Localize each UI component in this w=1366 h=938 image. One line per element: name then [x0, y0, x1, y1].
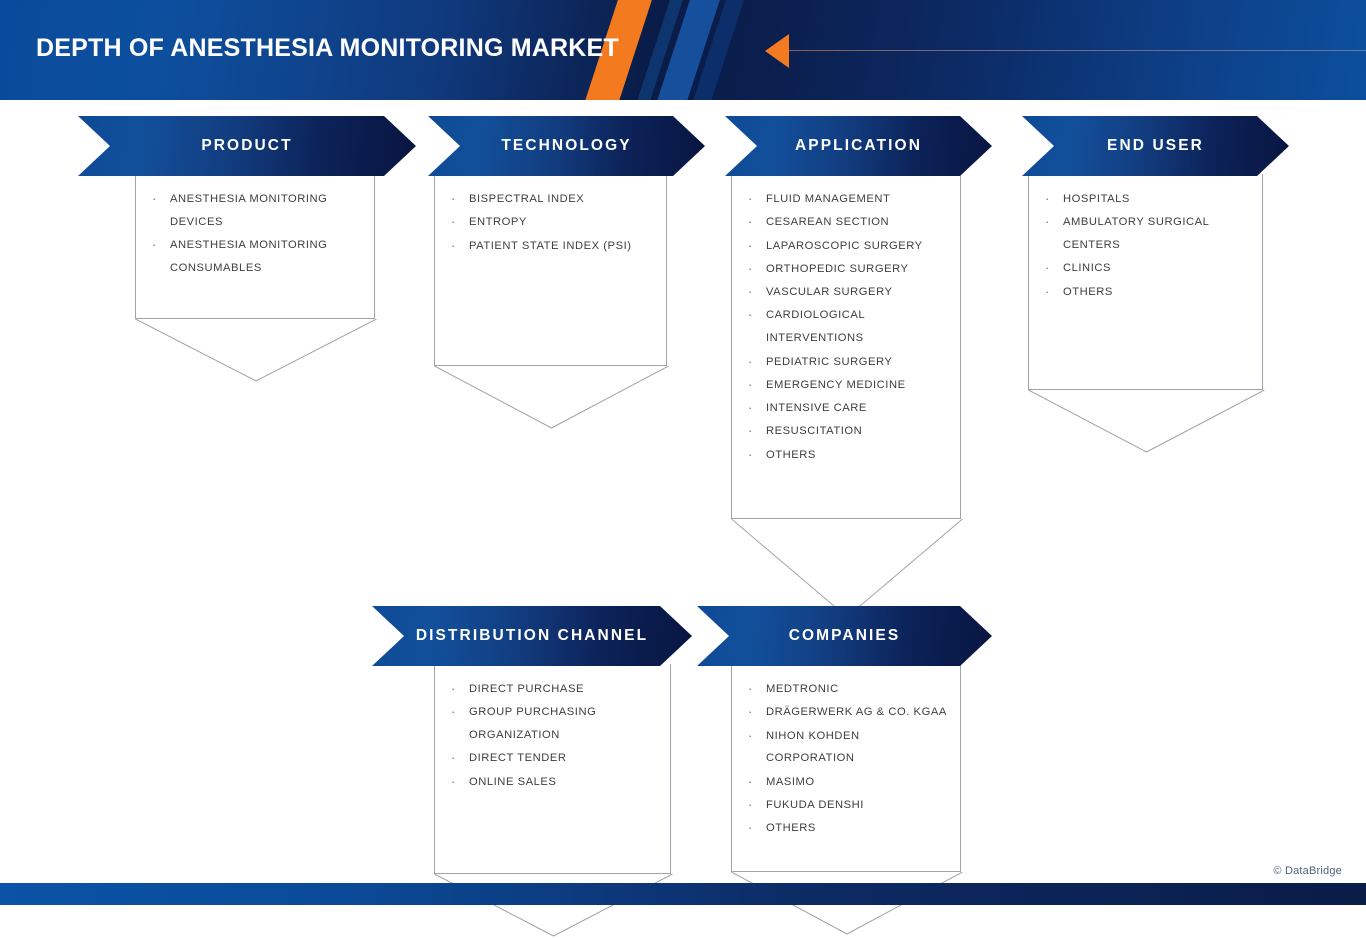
- bullet-icon: ·: [746, 725, 766, 748]
- footer-bar: [0, 883, 1366, 905]
- list-item: ·DIRECT PURCHASE: [449, 678, 660, 701]
- category-banner-end-user[interactable]: END USER: [1022, 116, 1289, 176]
- list-item: ·ANESTHESIA MONITORING CONSUMABLES: [150, 234, 364, 280]
- list-item: ·DIRECT TENDER: [449, 747, 660, 770]
- bullet-icon: ·: [449, 211, 469, 234]
- category-banner-label: APPLICATION: [795, 137, 922, 155]
- category-banner-label: DISTRIBUTION CHANNEL: [416, 627, 648, 645]
- bullet-icon: ·: [746, 794, 766, 817]
- list-item: ·AMBULATORY SURGICAL CENTERS: [1043, 211, 1252, 257]
- list-item: ·PEDIATRIC SURGERY: [746, 351, 950, 374]
- bullet-icon: ·: [746, 420, 766, 443]
- list-item: ·ENTROPY: [449, 211, 656, 234]
- bullet-icon: ·: [746, 701, 766, 724]
- bullet-icon: ·: [449, 678, 469, 701]
- category-card-application: ·FLUID MANAGEMENT·CESAREAN SECTION·LAPAR…: [731, 174, 961, 519]
- category-list-application: ·FLUID MANAGEMENT·CESAREAN SECTION·LAPAR…: [732, 174, 960, 473]
- bullet-icon: ·: [746, 771, 766, 794]
- list-item: ·VASCULAR SURGERY: [746, 281, 950, 304]
- list-item-label: ANESTHESIA MONITORING DEVICES: [170, 188, 364, 234]
- category-banner-companies[interactable]: COMPANIES: [697, 606, 992, 666]
- category-card-distribution-channel: ·DIRECT PURCHASE·GROUP PURCHASING ORGANI…: [434, 664, 671, 874]
- bullet-icon: ·: [746, 258, 766, 281]
- list-item: ·FLUID MANAGEMENT: [746, 188, 950, 211]
- list-item: ·MASIMO: [746, 771, 950, 794]
- bullet-icon: ·: [746, 211, 766, 234]
- bullet-icon: ·: [449, 771, 469, 794]
- list-item-label: EMERGENCY MEDICINE: [766, 374, 950, 397]
- list-item-label: PEDIATRIC SURGERY: [766, 351, 950, 374]
- category-list-product: ·ANESTHESIA MONITORING DEVICES·ANESTHESI…: [136, 174, 374, 286]
- list-item: ·OTHERS: [1043, 281, 1252, 304]
- bullet-icon: ·: [150, 188, 170, 211]
- bullet-icon: ·: [746, 351, 766, 374]
- bullet-icon: ·: [746, 374, 766, 397]
- list-item-label: RESUSCITATION: [766, 420, 950, 443]
- list-item: ·MEDTRONIC: [746, 678, 950, 701]
- category-list-companies: ·MEDTRONIC·DRÄGERWERK AG & CO. KGAA·NIHO…: [732, 664, 960, 847]
- category-list-technology: ·BISPECTRAL INDEX·ENTROPY·PATIENT STATE …: [435, 174, 666, 264]
- card-point-bottom: [135, 319, 375, 381]
- bullet-icon: ·: [1043, 211, 1063, 234]
- list-item-label: OTHERS: [766, 444, 950, 467]
- list-item: ·ORTHOPEDIC SURGERY: [746, 258, 950, 281]
- list-item: ·CLINICS: [1043, 257, 1252, 280]
- left-arrow-icon: [765, 34, 789, 68]
- list-item-label: MEDTRONIC: [766, 678, 950, 701]
- list-item-label: ENTROPY: [469, 211, 656, 234]
- page-header: DEPTH OF ANESTHESIA MONITORING MARKET: [0, 0, 1366, 100]
- list-item-label: CESAREAN SECTION: [766, 211, 950, 234]
- list-item: ·RESUSCITATION: [746, 420, 950, 443]
- category-banner-label: PRODUCT: [201, 137, 292, 155]
- list-item: ·CARDIOLOGICAL INTERVENTIONS: [746, 304, 950, 350]
- header-rule: [789, 50, 1366, 51]
- list-item-label: OTHERS: [1063, 281, 1252, 304]
- category-banner-label: END USER: [1107, 137, 1204, 155]
- list-item-label: AMBULATORY SURGICAL CENTERS: [1063, 211, 1252, 257]
- category-card-product: ·ANESTHESIA MONITORING DEVICES·ANESTHESI…: [135, 174, 375, 319]
- list-item-label: VASCULAR SURGERY: [766, 281, 950, 304]
- category-card-companies: ·MEDTRONIC·DRÄGERWERK AG & CO. KGAA·NIHO…: [731, 664, 961, 872]
- list-item: ·DRÄGERWERK AG & CO. KGAA: [746, 701, 950, 724]
- bullet-icon: ·: [150, 234, 170, 257]
- list-item: ·ANESTHESIA MONITORING DEVICES: [150, 188, 364, 234]
- list-item-label: DRÄGERWERK AG & CO. KGAA: [766, 701, 950, 724]
- list-item-label: DIRECT PURCHASE: [469, 678, 660, 701]
- list-item: ·PATIENT STATE INDEX (PSI): [449, 235, 656, 258]
- bullet-icon: ·: [449, 747, 469, 770]
- list-item: ·GROUP PURCHASING ORGANIZATION: [449, 701, 660, 747]
- list-item-label: GROUP PURCHASING ORGANIZATION: [469, 701, 660, 747]
- copyright-label: © DataBridge: [1273, 865, 1342, 877]
- bullet-icon: ·: [1043, 281, 1063, 304]
- list-item: ·LAPAROSCOPIC SURGERY: [746, 235, 950, 258]
- list-item-label: CARDIOLOGICAL INTERVENTIONS: [766, 304, 950, 350]
- list-item-label: CLINICS: [1063, 257, 1252, 280]
- card-point-bottom: [1028, 390, 1263, 452]
- list-item: ·OTHERS: [746, 444, 950, 467]
- bullet-icon: ·: [746, 817, 766, 840]
- bullet-icon: ·: [449, 188, 469, 211]
- list-item-label: BISPECTRAL INDEX: [469, 188, 656, 211]
- bullet-icon: ·: [746, 678, 766, 701]
- category-card-end-user: ·HOSPITALS·AMBULATORY SURGICAL CENTERS·C…: [1028, 174, 1263, 390]
- bullet-icon: ·: [746, 444, 766, 467]
- bullet-icon: ·: [746, 188, 766, 211]
- list-item: ·CESAREAN SECTION: [746, 211, 950, 234]
- list-item-label: LAPAROSCOPIC SURGERY: [766, 235, 950, 258]
- list-item-label: PATIENT STATE INDEX (PSI): [469, 235, 656, 258]
- list-item: ·BISPECTRAL INDEX: [449, 188, 656, 211]
- category-banner-technology[interactable]: TECHNOLOGY: [428, 116, 705, 176]
- list-item: ·ONLINE SALES: [449, 771, 660, 794]
- category-banner-label: TECHNOLOGY: [501, 137, 631, 155]
- list-item: ·NIHON KOHDEN CORPORATION: [746, 725, 950, 771]
- category-banner-application[interactable]: APPLICATION: [725, 116, 992, 176]
- list-item-label: OTHERS: [766, 817, 950, 840]
- bullet-icon: ·: [746, 281, 766, 304]
- list-item-label: ANESTHESIA MONITORING CONSUMABLES: [170, 234, 364, 280]
- list-item-label: FLUID MANAGEMENT: [766, 188, 950, 211]
- list-item: ·INTENSIVE CARE: [746, 397, 950, 420]
- category-banner-label: COMPANIES: [789, 627, 901, 645]
- list-item-label: NIHON KOHDEN CORPORATION: [766, 725, 950, 771]
- category-banner-distribution-channel[interactable]: DISTRIBUTION CHANNEL: [372, 606, 692, 666]
- bullet-icon: ·: [1043, 257, 1063, 280]
- bullet-icon: ·: [746, 397, 766, 420]
- card-point-bottom: [434, 366, 667, 428]
- bullet-icon: ·: [1043, 188, 1063, 211]
- category-list-distribution-channel: ·DIRECT PURCHASE·GROUP PURCHASING ORGANI…: [435, 664, 670, 800]
- category-card-technology: ·BISPECTRAL INDEX·ENTROPY·PATIENT STATE …: [434, 174, 667, 366]
- bullet-icon: ·: [449, 235, 469, 258]
- list-item-label: INTENSIVE CARE: [766, 397, 950, 420]
- bullet-icon: ·: [449, 701, 469, 724]
- card-point-bottom: [731, 519, 961, 581]
- list-item-label: FUKUDA DENSHI: [766, 794, 950, 817]
- category-banner-product[interactable]: PRODUCT: [78, 116, 416, 176]
- page-title: DEPTH OF ANESTHESIA MONITORING MARKET: [36, 34, 619, 63]
- list-item-label: ORTHOPEDIC SURGERY: [766, 258, 950, 281]
- list-item: ·FUKUDA DENSHI: [746, 794, 950, 817]
- list-item: ·EMERGENCY MEDICINE: [746, 374, 950, 397]
- list-item-label: MASIMO: [766, 771, 950, 794]
- category-list-end-user: ·HOSPITALS·AMBULATORY SURGICAL CENTERS·C…: [1029, 174, 1262, 310]
- list-item-label: HOSPITALS: [1063, 188, 1252, 211]
- list-item: ·OTHERS: [746, 817, 950, 840]
- list-item-label: DIRECT TENDER: [469, 747, 660, 770]
- bullet-icon: ·: [746, 235, 766, 258]
- list-item: ·HOSPITALS: [1043, 188, 1252, 211]
- bullet-icon: ·: [746, 304, 766, 327]
- list-item-label: ONLINE SALES: [469, 771, 660, 794]
